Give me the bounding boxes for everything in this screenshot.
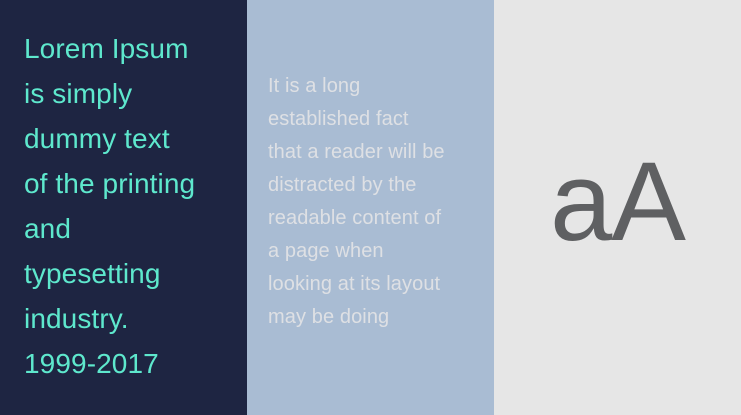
body-copy-panel: It is a long established fact that a rea… [247,0,494,415]
body-copy-text: It is a long established fact that a rea… [268,70,482,334]
font-specimen-panel: aA [494,0,741,415]
font-specimen-glyphs: aA [494,146,741,258]
headline-panel: Lorem Ipsum is simply dummy text of the … [0,0,247,415]
headline-text: Lorem Ipsum is simply dummy text of the … [24,26,233,386]
typography-panels-stage: Lorem Ipsum is simply dummy text of the … [0,0,741,415]
